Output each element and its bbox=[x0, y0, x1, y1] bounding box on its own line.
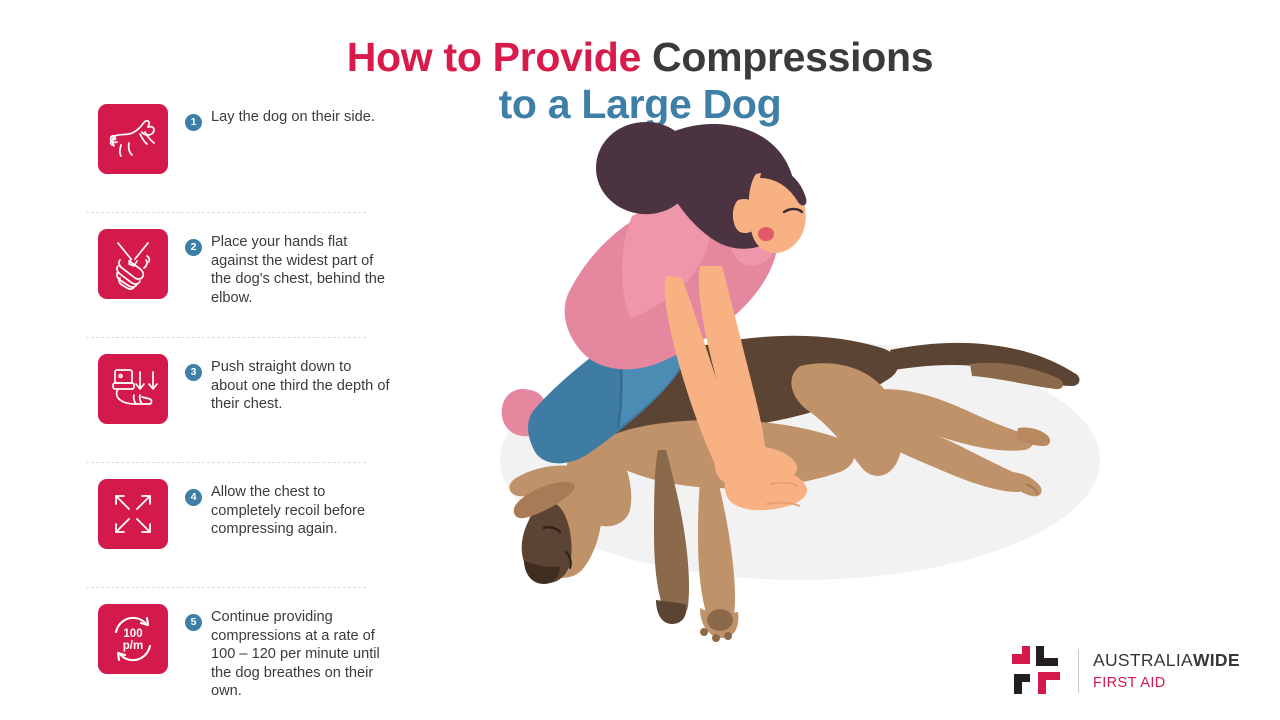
dog-toe-pad-1 bbox=[700, 628, 708, 636]
step-item-4: 4 Allow the chest to completely recoil b… bbox=[86, 479, 406, 571]
step-divider-2 bbox=[86, 337, 366, 338]
step-divider-3 bbox=[86, 462, 366, 463]
step-1-number-badge: 1 bbox=[185, 114, 202, 131]
dog-toe-pad-3 bbox=[724, 632, 732, 640]
step-item-1: 1 Lay the dog on their side. bbox=[86, 104, 406, 196]
step-3-body: 3 Push straight down to about one third … bbox=[185, 354, 391, 414]
step-4-number-badge: 4 bbox=[185, 489, 202, 506]
interlocked-hands-icon bbox=[98, 229, 168, 299]
step-3-number-badge: 3 bbox=[185, 364, 202, 381]
step-3-icon-tile bbox=[98, 354, 168, 424]
circular-arrows-rate-icon: 100 p/m bbox=[98, 604, 168, 674]
logo-divider bbox=[1078, 649, 1079, 693]
illustration-woman-dog-cpr bbox=[470, 120, 1170, 700]
step-divider-4 bbox=[86, 587, 366, 588]
logo-name-part-1: AUSTRALIA bbox=[1093, 650, 1193, 670]
step-4-body: 4 Allow the chest to completely recoil b… bbox=[185, 479, 391, 539]
step-3-text: Push straight down to about one third th… bbox=[211, 358, 391, 414]
step-2-icon-tile bbox=[98, 229, 168, 299]
logo-name-part-2: WIDE bbox=[1193, 650, 1240, 670]
logo-quadrant-top-right bbox=[1036, 646, 1058, 666]
brand-logo[interactable]: AUSTRALIAWIDE FIRST AID bbox=[1010, 644, 1240, 698]
logo-wordmark: AUSTRALIAWIDE FIRST AID bbox=[1093, 652, 1240, 690]
logo-cross-svg bbox=[1010, 644, 1064, 698]
australia-wide-first-aid-cross-logo-icon bbox=[1010, 644, 1064, 698]
page-title: How to Provide Compressions to a Large D… bbox=[320, 34, 960, 127]
step-1-icon-tile bbox=[98, 104, 168, 174]
step-4-icon-tile bbox=[98, 479, 168, 549]
page-title-line-1: How to Provide Compressions bbox=[320, 34, 960, 81]
step-5-icon-rate-unit: p/m bbox=[123, 640, 143, 652]
dog-paw-pad bbox=[707, 609, 733, 631]
step-5-text: Continue providing compressions at a rat… bbox=[211, 608, 391, 701]
logo-quadrant-bottom-left bbox=[1014, 674, 1030, 694]
logo-tagline: FIRST AID bbox=[1093, 676, 1240, 691]
dog-toe-pad-2 bbox=[712, 634, 720, 642]
page-title-dark-text: Compressions bbox=[652, 34, 933, 80]
logo-quadrant-bottom-right bbox=[1038, 672, 1060, 694]
step-2-number-badge: 2 bbox=[185, 239, 202, 256]
woman-lips bbox=[758, 227, 774, 241]
step-1-body: 1 Lay the dog on their side. bbox=[185, 104, 375, 131]
step-item-2: 2 Place your hands flat against the wide… bbox=[86, 229, 406, 321]
steps-list: 1 Lay the dog on their side. bbox=[86, 104, 406, 696]
logo-quadrant-top-left bbox=[1012, 646, 1030, 664]
step-5-icon-tile: 100 p/m bbox=[98, 604, 168, 674]
step-divider-1 bbox=[86, 212, 366, 213]
step-item-5: 100 p/m 5 Continue providing compression… bbox=[86, 604, 406, 696]
illustration-svg bbox=[470, 120, 1170, 700]
hand-push-down-arrows-icon bbox=[98, 354, 168, 424]
step-2-text: Place your hands flat against the widest… bbox=[211, 233, 391, 307]
step-item-3: 3 Push straight down to about one third … bbox=[86, 354, 406, 446]
step-5-icon-rate-value: 100 bbox=[123, 628, 142, 640]
dog-front-paw-far bbox=[656, 600, 686, 624]
step-5-body: 5 Continue providing compressions at a r… bbox=[185, 604, 391, 701]
step-1-text: Lay the dog on their side. bbox=[211, 108, 375, 127]
logo-company-name: AUSTRALIAWIDE bbox=[1093, 652, 1240, 670]
dog-lying-on-side-icon bbox=[98, 104, 168, 174]
step-4-text: Allow the chest to completely recoil bef… bbox=[211, 483, 391, 539]
page-title-accent-text: How to Provide bbox=[347, 34, 641, 80]
four-outward-arrows-expand-icon bbox=[98, 479, 168, 549]
step-2-body: 2 Place your hands flat against the wide… bbox=[185, 229, 391, 307]
step-5-number-badge: 5 bbox=[185, 614, 202, 631]
